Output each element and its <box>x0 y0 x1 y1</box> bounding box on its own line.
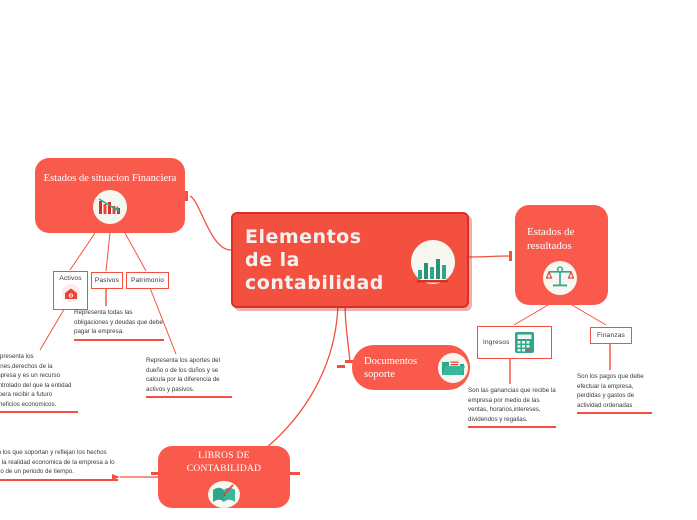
sub-node-label: Finanzas <box>597 332 625 339</box>
sub-node-label: Ingresos <box>483 339 510 346</box>
sub-node-activos[interactable]: Activos <box>53 271 88 310</box>
balance-scale-icon <box>543 261 577 295</box>
note-pasivos: Representa todas las obligaciones y deud… <box>74 308 164 341</box>
branch-label: Estados de resultados <box>515 215 582 253</box>
branch-label: LIBROS DE CONTABILIDAD <box>158 446 290 476</box>
bar-chart-icon <box>411 240 455 284</box>
sub-node-patrimonio[interactable]: Patrimonio <box>126 272 169 289</box>
sub-node-label: Pasivos <box>95 277 119 284</box>
center-node-title: Elementos de la contabilidad <box>233 226 405 295</box>
note-activos: Representa los bienes,derechos de la emp… <box>0 352 78 413</box>
sub-node-pasivos[interactable]: Pasivos <box>91 272 123 289</box>
note-patrimonio: Representa los aportes del dueño o de lo… <box>146 356 232 398</box>
sub-node-label: Activos <box>59 275 81 282</box>
folder-document-icon <box>438 353 468 383</box>
declining-bar-chart-icon <box>93 190 127 224</box>
branch-node-libros-de-contabilidad[interactable]: LIBROS DE CONTABILIDAD <box>158 446 290 508</box>
branch-label: Documentos soporte <box>354 355 438 381</box>
center-node[interactable]: Elementos de la contabilidad <box>231 212 469 308</box>
branch-label: Estados de situacion Financiera <box>36 168 185 185</box>
open-book-pen-icon <box>208 481 240 508</box>
mindmap-canvas: Elementos de la contabilidad Estados de … <box>0 0 697 520</box>
sub-node-finanzas[interactable]: Finanzas <box>590 327 632 344</box>
note-finanzas: Son los pagos que debe efectuar la empre… <box>577 372 652 414</box>
calculator-icon <box>514 331 535 354</box>
piggy-bank-icon <box>62 284 80 302</box>
sub-node-label: Patrimonio <box>131 277 164 284</box>
branch-node-estados-resultados[interactable]: Estados de resultados <box>515 205 608 305</box>
sub-node-ingresos[interactable]: Ingresos <box>477 326 552 359</box>
branch-node-documentos-soporte[interactable]: Documentos soporte <box>352 345 470 390</box>
note-ingresos: Son las ganancias que recibe la empresa … <box>468 386 556 428</box>
note-libros-de-contabilidad: Son los que soportan y reflejan los hech… <box>0 448 118 481</box>
branch-node-estados-situacion-financiera[interactable]: Estados de situacion Financiera <box>35 158 185 233</box>
